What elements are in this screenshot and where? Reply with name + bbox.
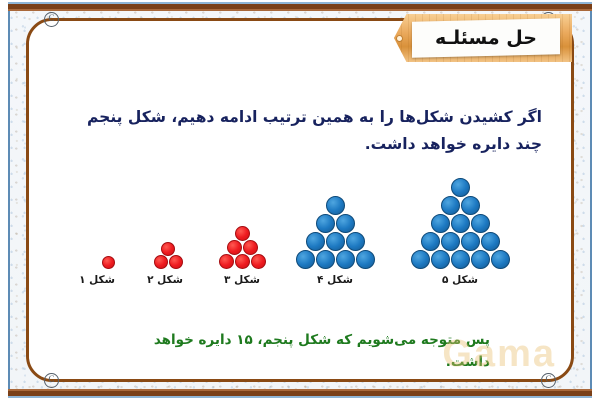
circle-dot bbox=[441, 232, 460, 251]
circle-dot bbox=[219, 254, 234, 269]
circle-dot bbox=[356, 250, 375, 269]
question-text: اگر کشیدن شکل‌ها را به همین ترتیب ادامه … bbox=[72, 104, 542, 158]
circle-dot bbox=[243, 240, 258, 255]
circle-row bbox=[440, 196, 480, 215]
circle-dot bbox=[336, 250, 355, 269]
circle-dot bbox=[441, 196, 460, 215]
corner-mark-icon: C bbox=[44, 12, 59, 27]
circle-dot bbox=[461, 196, 480, 215]
circle-row bbox=[234, 226, 250, 241]
circle-dot bbox=[451, 214, 470, 233]
circle-dot bbox=[491, 250, 510, 269]
circle-row bbox=[420, 232, 500, 251]
circle-row bbox=[295, 250, 375, 269]
circle-dot bbox=[471, 250, 490, 269]
circle-row bbox=[410, 250, 510, 269]
slide-root: C C C C حل مسئلـه اگر کشیدن شکل‌ها را به… bbox=[0, 0, 600, 400]
circle-dot bbox=[227, 240, 242, 255]
circle-row bbox=[218, 254, 266, 269]
circle-dot bbox=[235, 254, 250, 269]
circle-dot bbox=[326, 232, 345, 251]
watermark-text: Gama bbox=[442, 333, 556, 376]
circle-dot bbox=[235, 226, 250, 241]
conclusion-text: پس متوجه می‌شویم که شکل پنجم، ۱۵ دایره خ… bbox=[120, 330, 490, 373]
circle-dot bbox=[326, 196, 345, 215]
circle-row bbox=[450, 178, 470, 197]
circle-dot bbox=[251, 254, 266, 269]
figure-group: شکل ۴ bbox=[295, 196, 375, 268]
circle-row bbox=[305, 232, 365, 251]
circle-dot bbox=[461, 232, 480, 251]
circle-dot bbox=[451, 250, 470, 269]
circle-row bbox=[315, 214, 355, 233]
figures-container: شکل ۱شکل ۲شکل ۳شکل ۴شکل ۵ bbox=[60, 168, 540, 290]
circle-dot bbox=[296, 250, 315, 269]
circle-dot bbox=[431, 214, 450, 233]
circle-dot bbox=[336, 214, 355, 233]
circle-dot bbox=[471, 214, 490, 233]
figure-group: شکل ۵ bbox=[410, 178, 510, 268]
circle-dot bbox=[161, 242, 175, 256]
circle-dot bbox=[306, 232, 325, 251]
circle-dot bbox=[102, 256, 115, 269]
circle-dot bbox=[421, 232, 440, 251]
figure-group: شکل ۲ bbox=[153, 242, 183, 268]
circle-row bbox=[226, 240, 258, 255]
circle-dot bbox=[451, 178, 470, 197]
corner-mark-icon: C bbox=[44, 373, 59, 388]
circle-dot bbox=[316, 250, 335, 269]
bottom-border-band bbox=[8, 389, 592, 398]
circle-row bbox=[161, 242, 176, 256]
circle-dot bbox=[411, 250, 430, 269]
figure-group: شکل ۳ bbox=[218, 226, 266, 268]
circle-row bbox=[430, 214, 490, 233]
sign-nail-icon bbox=[397, 36, 402, 41]
page-title: حل مسئلـه bbox=[435, 27, 537, 49]
circle-dot bbox=[481, 232, 500, 251]
circle-row bbox=[153, 255, 183, 269]
circle-row bbox=[325, 196, 345, 215]
figure-group: شکل ۱ bbox=[101, 256, 115, 268]
title-label-plate: حل مسئلـه bbox=[412, 18, 560, 58]
top-border-band bbox=[8, 2, 592, 11]
circle-dot bbox=[316, 214, 335, 233]
circle-dot bbox=[346, 232, 365, 251]
circle-dot bbox=[154, 255, 168, 269]
circle-dot bbox=[169, 255, 183, 269]
circle-row bbox=[101, 256, 115, 269]
title-banner: حل مسئلـه bbox=[394, 14, 572, 62]
circle-dot bbox=[431, 250, 450, 269]
